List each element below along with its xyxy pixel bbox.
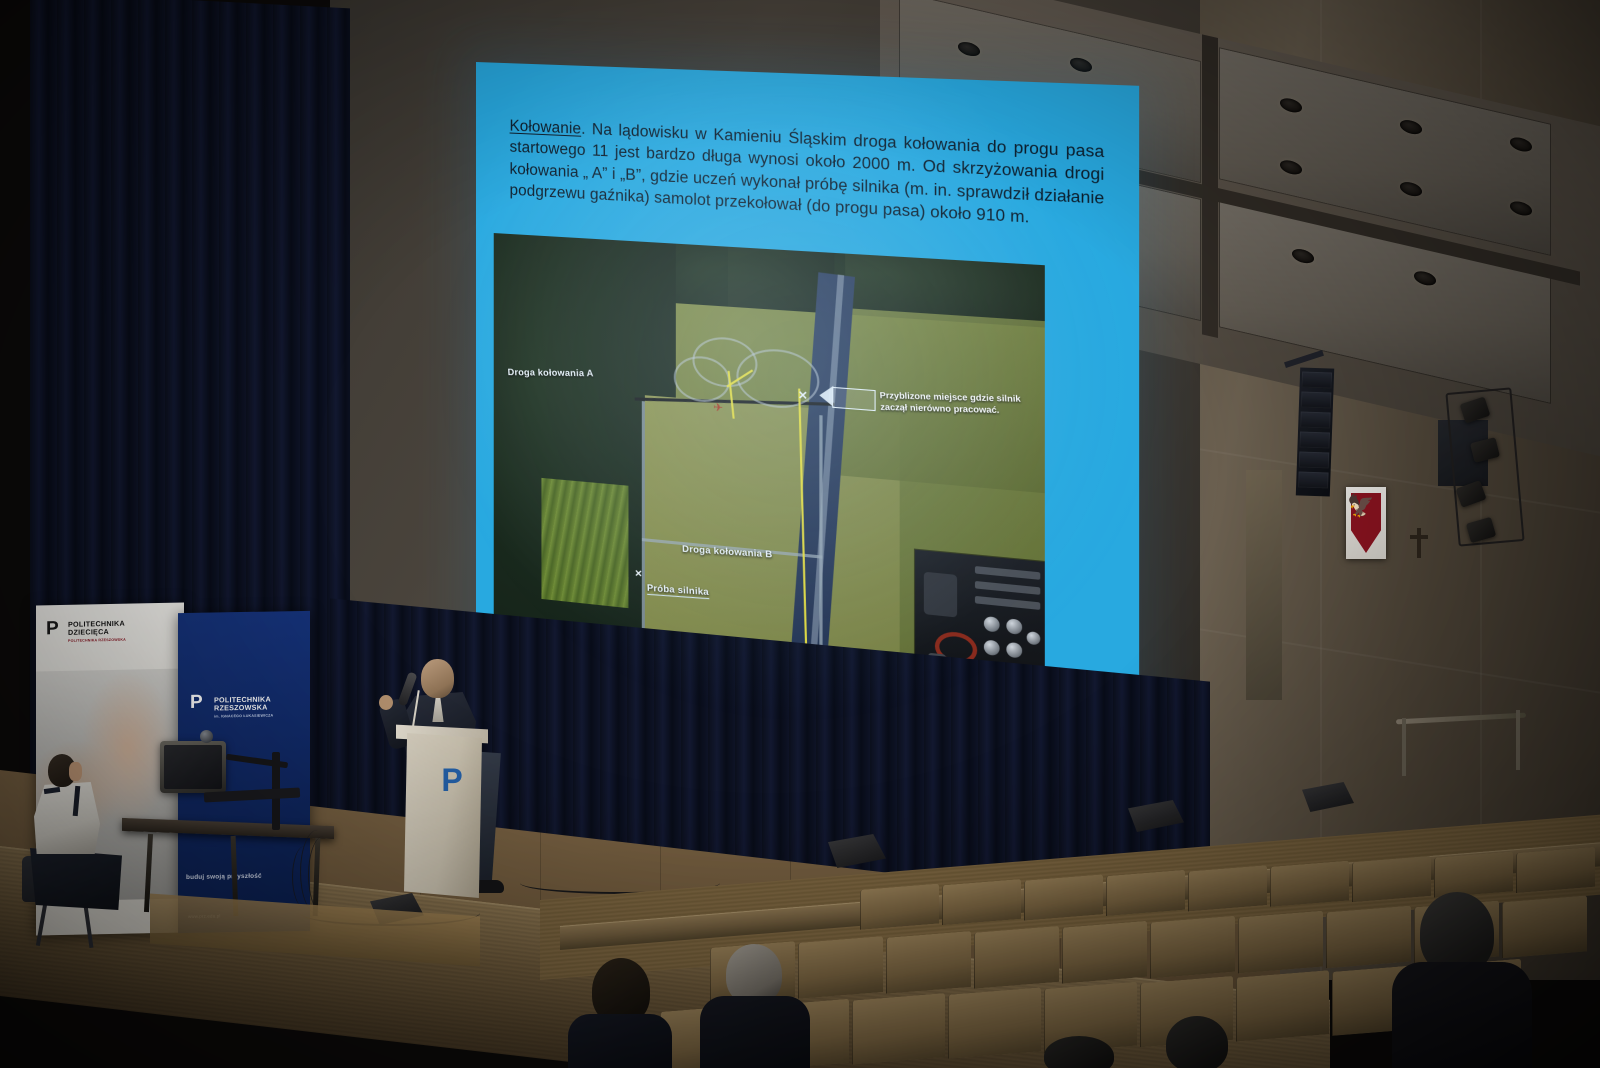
banner-white-line-2: DZIECIĘCA	[68, 628, 126, 638]
presenter-head	[421, 659, 454, 698]
crucifix-icon	[1417, 528, 1421, 558]
line-array-speaker-icon	[1296, 367, 1334, 496]
banner-white-logo-mark: P	[46, 619, 59, 638]
callout-text: Przyblizone miejsce gdzie silnik zaczął …	[879, 390, 1021, 418]
aircraft-icon: ✈	[713, 401, 723, 415]
seat[interactable]	[1270, 861, 1349, 907]
seat[interactable]	[1502, 895, 1587, 958]
presenter-hand	[379, 695, 393, 710]
seat[interactable]	[798, 936, 883, 999]
auditorium-scene: Kołowanie. Na lądowisku w Kamieniu Śląsk…	[0, 0, 1600, 1068]
audience-member-body	[700, 996, 810, 1068]
audience-member-body	[568, 1014, 672, 1068]
banner-blue-logo-text: POLITECHNIKA RZESZOWSKA im. IGNACEGO ŁUK…	[214, 695, 273, 719]
lectern	[404, 733, 482, 898]
teleprompter-monitor[interactable]	[160, 741, 226, 793]
banner-blue-logo-mark: P	[190, 693, 203, 712]
polish-eagle-emblem: 🦅	[1346, 487, 1386, 559]
eagle-icon: 🦅	[1346, 495, 1376, 517]
seat[interactable]	[860, 884, 939, 930]
slide-paragraph: . Na lądowisku w Kamieniu Śląskim droga …	[510, 121, 1105, 227]
audience-member-head	[1044, 1036, 1114, 1068]
seat[interactable]	[948, 987, 1041, 1058]
seat[interactable]	[1106, 870, 1185, 916]
seat[interactable]	[886, 931, 971, 994]
marker-x-engine-test: ✕	[635, 568, 643, 580]
audience-member-head	[1166, 1016, 1228, 1068]
seat[interactable]	[1352, 856, 1431, 902]
callout-arrow-box	[832, 387, 875, 411]
slide-body-text: Kołowanie. Na lądowisku w Kamieniu Śląsk…	[510, 115, 1105, 233]
banner-white-sub: POLITECHNIKA RZESZOWSKA	[68, 638, 126, 643]
marker-x-engine-fault: ✕	[798, 388, 808, 402]
operator-face	[69, 762, 82, 781]
wall-pilaster	[1246, 470, 1282, 700]
seat[interactable]	[1516, 847, 1595, 893]
audience-member-body	[1392, 962, 1532, 1068]
seat[interactable]	[1062, 921, 1147, 984]
banner-blue-line-2: RZESZOWSKA	[214, 704, 273, 714]
seat[interactable]	[1188, 865, 1267, 911]
seat[interactable]	[1434, 851, 1513, 897]
slide-heading: Kołowanie	[510, 117, 582, 137]
label-taxiway-a: Droga kołowania A	[507, 367, 593, 378]
banner-white-logo-text: POLITECHNIKA DZIECIĘCA POLITECHNIKA RZES…	[68, 620, 126, 643]
camera-icon	[200, 730, 213, 743]
seat[interactable]	[1236, 970, 1329, 1041]
audience-member-head	[726, 944, 782, 1004]
seat[interactable]	[852, 993, 945, 1064]
banner-blue-sub: im. IGNACEGO ŁUKASIEWICZA	[214, 714, 273, 719]
seat[interactable]	[1150, 916, 1235, 979]
monitor-screen	[164, 745, 222, 789]
university-logo-icon: P	[438, 762, 466, 800]
seat[interactable]	[942, 879, 1021, 925]
seat[interactable]	[1024, 874, 1103, 920]
banner-blue-tagline: buduj swoją przyszłość	[186, 873, 262, 881]
seat[interactable]	[1326, 906, 1411, 969]
seat[interactable]	[1238, 911, 1323, 974]
callout-arrow-head	[819, 385, 833, 407]
operator-legs	[30, 848, 122, 910]
seat[interactable]	[974, 926, 1059, 989]
